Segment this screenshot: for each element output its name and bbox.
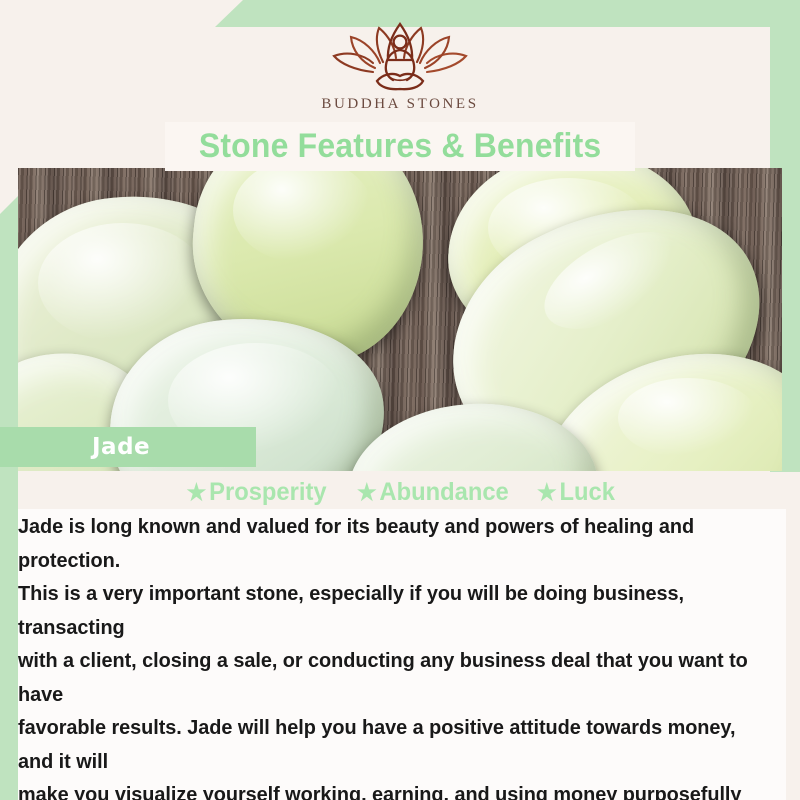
benefit-item-abundance: ★Abundance (357, 478, 509, 507)
lotus-meditation-icon (325, 20, 475, 92)
benefit-label: Abundance (379, 478, 508, 506)
brand-name: BUDDHA STONES (270, 96, 530, 113)
stone-name-band: Jade (0, 427, 256, 467)
benefits-row: ★Prosperity ★Abundance ★Luck (0, 478, 800, 507)
description-line: make you visualize yourself working, ear… (18, 779, 774, 800)
star-icon: ★ (537, 479, 557, 505)
poster-header: BUDDHA STONES (0, 0, 800, 125)
stone-name: Jade (92, 434, 150, 460)
brand-logo: BUDDHA STONES (270, 20, 530, 113)
decor-band-left (0, 196, 18, 756)
description-line: favorable results. Jade will help you ha… (18, 712, 774, 779)
page-title: Stone Features & Benefits (199, 127, 602, 166)
benefit-label: Prosperity (209, 478, 326, 506)
stone-photo (18, 168, 782, 471)
benefit-item-prosperity: ★Prosperity (187, 478, 327, 507)
star-icon: ★ (357, 479, 377, 505)
benefit-item-luck: ★Luck (537, 478, 615, 507)
benefit-label: Luck (559, 478, 614, 506)
description-line: with a client, closing a sale, or conduc… (18, 645, 774, 712)
description-line: This is a very important stone, especial… (18, 578, 774, 645)
star-icon: ★ (187, 479, 207, 505)
description-line: Jade is long known and valued for its be… (18, 511, 774, 578)
stone-info-poster: BUDDHA STONES Stone Features & Benefits … (0, 0, 800, 800)
description-block: Jade is long known and valued for its be… (18, 509, 786, 800)
title-strip: Stone Features & Benefits (165, 122, 635, 171)
